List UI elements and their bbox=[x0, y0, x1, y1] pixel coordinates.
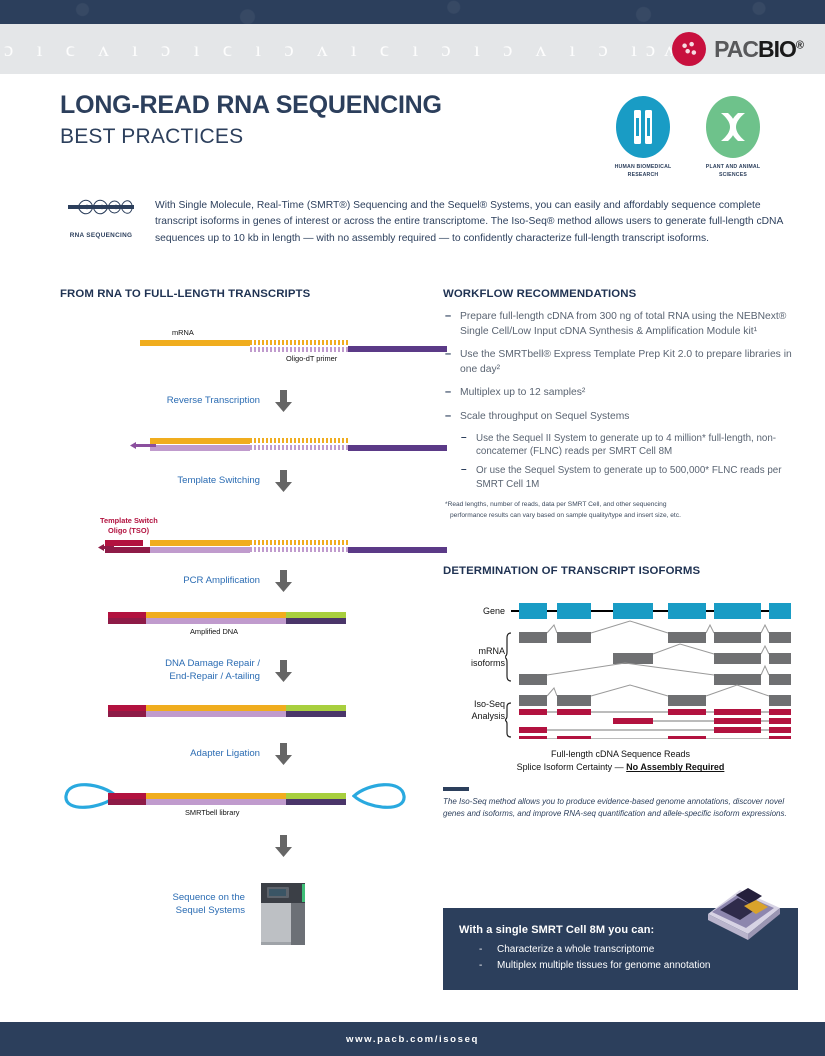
iso-label-mrna-line2: isoforms bbox=[443, 657, 505, 669]
caption-prefix: Splice Isoform Certainty — bbox=[517, 762, 627, 772]
bar-s3-lightpurple-dotted bbox=[250, 547, 350, 552]
badge-label-human: HUMAN BIOMEDICAL RESEARCH bbox=[611, 164, 675, 180]
document-page: ɔ ı ϲ ʌ ı ɔ ı ϲ ı ɔ ʌ ı ϲ ı ɔ ı ɔ ʌ ı ɔ … bbox=[0, 0, 825, 1056]
crossed-strands-glyph bbox=[706, 96, 760, 158]
bar-s3-lightpurple bbox=[150, 547, 250, 553]
workflow-recommendations-list: Prepare full-length cDNA from 300 ng of … bbox=[443, 310, 798, 491]
right-column: WORKFLOW RECOMMENDATIONS Prepare full-le… bbox=[443, 288, 798, 820]
smrtbell-right-loop-icon bbox=[352, 775, 408, 817]
callout-item: Characterize a whole transcriptome bbox=[459, 944, 798, 955]
sub-recommendations-list: Use the Sequel II System to generate up … bbox=[460, 432, 798, 492]
isoform-caption-line-2: Splice Isoform Certainty — No Assembly R… bbox=[443, 761, 798, 775]
plant-animal-sciences-icon bbox=[706, 96, 760, 158]
bar-s2-yellow bbox=[150, 438, 250, 444]
bar-s5-darkred bbox=[108, 711, 146, 717]
footnote: *Read lengths, number of reads, data per… bbox=[443, 500, 798, 520]
arrow-down-6-icon bbox=[275, 835, 292, 857]
step-dna-damage-repair-line1: DNA Damage Repair / bbox=[60, 658, 260, 670]
bar-oligodt-dotted bbox=[250, 347, 350, 352]
caption-oligo-dt-primer: Oligo-dT primer bbox=[286, 354, 337, 363]
dna-glyph-strip: ɔ ı ϲ ʌ ı ɔ ı ϲ ı ɔ ʌ ı ϲ ı ɔ ı ɔ ʌ ı ɔ … bbox=[0, 24, 672, 74]
arrow-left-s3-icon bbox=[98, 543, 114, 553]
arrow-down-3-icon bbox=[275, 570, 292, 592]
recommendation-item: Scale throughput on Sequel Systems Use t… bbox=[443, 410, 798, 491]
caption-mrna: mRNA bbox=[172, 328, 194, 337]
step-dna-damage-repair-line2: End-Repair / A-tailing bbox=[60, 671, 260, 683]
caption-tso-line1: Template Switch bbox=[100, 516, 158, 526]
bar-s2-purple bbox=[348, 445, 447, 451]
page-title: LONG-READ RNA SEQUENCING BEST PRACTICES bbox=[60, 92, 442, 149]
isoform-section: DETERMINATION OF TRANSCRIPT ISOFORMS Gen… bbox=[443, 565, 798, 820]
callout-item: Multiplex multiple tissues for genome an… bbox=[459, 960, 798, 971]
logo-pac-text: PAC bbox=[714, 36, 758, 62]
final-label-line2: Sequel Systems bbox=[60, 905, 245, 917]
bar-s6-lightpurple bbox=[146, 799, 286, 805]
arrow-down-1-icon bbox=[275, 390, 292, 412]
bar-mrna-dotted bbox=[250, 340, 350, 345]
bar-s3-purple bbox=[348, 547, 447, 553]
iso-label-gene: Gene bbox=[443, 605, 505, 617]
title-line-2: BEST PRACTICES bbox=[60, 125, 442, 149]
bar-s3-yellow bbox=[150, 540, 250, 546]
bar-s6-darkred bbox=[108, 799, 146, 805]
sequel-system-instrument-icon bbox=[258, 880, 308, 948]
pacbio-logo: PACBIO® bbox=[672, 32, 825, 66]
arrow-down-5-icon bbox=[275, 743, 292, 765]
step-template-switching: Template Switching bbox=[60, 475, 260, 487]
caption-smrtbell-library: SMRTbell library bbox=[185, 808, 239, 817]
brand-bar: ɔ ı ϲ ʌ ı ɔ ı ϲ ı ɔ ʌ ı ϲ ı ɔ ı ɔ ʌ ı ɔ … bbox=[0, 24, 825, 74]
right-column-heading: WORKFLOW RECOMMENDATIONS bbox=[443, 288, 798, 300]
badge-label-plant: PLANT AND ANIMAL SCIENCES bbox=[701, 164, 765, 180]
bar-s2-yellow-dotted bbox=[250, 438, 350, 443]
segment-badges: HUMAN BIOMEDICAL RESEARCH PLANT AND ANIM… bbox=[611, 96, 765, 180]
bar-s3-yellow-dotted bbox=[250, 540, 350, 545]
sub-recommendation-item: Use the Sequel II System to generate up … bbox=[460, 432, 798, 459]
arrow-left-s2-icon bbox=[130, 441, 156, 451]
step-reverse-transcription: Reverse Transcription bbox=[60, 395, 260, 407]
recommendation-text: Scale throughput on Sequel Systems bbox=[460, 411, 629, 422]
title-line-1: LONG-READ RNA SEQUENCING bbox=[60, 92, 442, 118]
bar-s4-lightpurple bbox=[146, 618, 286, 624]
step-adapter-ligation: Adapter Ligation bbox=[60, 748, 260, 760]
step-pcr-amplification: PCR Amplification bbox=[60, 575, 260, 587]
intro-paragraph: With Single Molecule, Real-Time (SMRT®) … bbox=[155, 198, 795, 247]
divider-rule bbox=[443, 787, 469, 791]
callout-box: With a single SMRT Cell 8M you can: Char… bbox=[443, 908, 798, 990]
bar-s5-darkpurple bbox=[286, 711, 346, 717]
bar-s5-lightpurple bbox=[146, 711, 286, 717]
smrt-cell-8m-icon bbox=[700, 880, 784, 942]
arrow-down-4-icon bbox=[275, 660, 292, 682]
isoform-note: The Iso-Seq method allows you to produce… bbox=[443, 796, 798, 820]
isoform-caption: Full-length cDNA Sequence Reads Splice I… bbox=[443, 748, 798, 775]
isoform-diagram: Gene mRNA isoforms Iso-Seq Analysis bbox=[443, 593, 798, 743]
recommendation-item: Use the SMRTbell® Express Template Prep … bbox=[443, 348, 798, 377]
bar-mrna-yellow bbox=[140, 340, 250, 346]
recommendation-item: Prepare full-length cDNA from 300 ng of … bbox=[443, 310, 798, 339]
left-column: FROM RNA TO FULL-LENGTH TRANSCRIPTS mRNA… bbox=[60, 288, 410, 300]
rna-sequencing-label: RNA SEQUENCING bbox=[62, 231, 140, 241]
footer-bar: www.pacb.com/isoseq bbox=[0, 1022, 825, 1056]
bar-s4-darkpurple bbox=[286, 618, 346, 624]
bar-s2-lightpurple-dotted bbox=[250, 445, 350, 450]
rna-sequencing-icon-block: RNA SEQUENCING bbox=[62, 196, 140, 241]
iso-label-mrna-line1: mRNA bbox=[443, 645, 505, 657]
badge-plant-and-animal-sciences: PLANT AND ANIMAL SCIENCES bbox=[701, 96, 765, 180]
pacbio-logo-text: PACBIO® bbox=[714, 36, 803, 63]
logo-bio-text: BIO bbox=[758, 36, 796, 62]
sub-recommendation-item: Or use the Sequel System to generate up … bbox=[460, 464, 798, 491]
arrow-down-2-icon bbox=[275, 470, 292, 492]
bar-s4-darkred bbox=[108, 618, 146, 624]
badge-human-biomedical-research: HUMAN BIOMEDICAL RESEARCH bbox=[611, 96, 675, 180]
bar-oligodt-purple bbox=[348, 346, 447, 352]
isoform-caption-line-1: Full-length cDNA Sequence Reads bbox=[443, 748, 798, 762]
rna-sequencing-icon bbox=[62, 196, 140, 222]
dna-column-glyph bbox=[616, 96, 670, 158]
isoform-svg bbox=[505, 599, 795, 739]
no-assembly-required-emphasis: No Assembly Required bbox=[626, 762, 724, 772]
left-column-heading: FROM RNA TO FULL-LENGTH TRANSCRIPTS bbox=[60, 288, 410, 300]
pacbio-logo-mark-icon bbox=[672, 32, 706, 66]
iso-label-isoseq-line1: Iso-Seq bbox=[443, 698, 505, 710]
footnote-line-1: *Read lengths, number of reads, data per… bbox=[445, 501, 667, 508]
footnote-line-2: performance results can vary based on sa… bbox=[445, 511, 798, 521]
logo-trademark: ® bbox=[796, 39, 803, 51]
final-label-line1: Sequence on the bbox=[60, 892, 245, 904]
bar-s2-lightpurple bbox=[150, 445, 250, 451]
top-decorative-bar bbox=[0, 0, 825, 24]
footer-url[interactable]: www.pacb.com/isoseq bbox=[346, 1034, 479, 1045]
recommendation-item: Multiplex up to 12 samples² bbox=[443, 386, 798, 401]
iso-label-isoseq-line2: Analysis bbox=[443, 710, 505, 722]
human-biomedical-research-icon bbox=[616, 96, 670, 158]
callout-list: Characterize a whole transcriptome Multi… bbox=[459, 944, 798, 971]
caption-amplified-dna: Amplified DNA bbox=[190, 627, 238, 636]
caption-tso-line2: Oligo (TSO) bbox=[108, 526, 149, 536]
isoform-section-heading: DETERMINATION OF TRANSCRIPT ISOFORMS bbox=[443, 565, 798, 577]
bar-s6-darkpurple bbox=[286, 799, 346, 805]
